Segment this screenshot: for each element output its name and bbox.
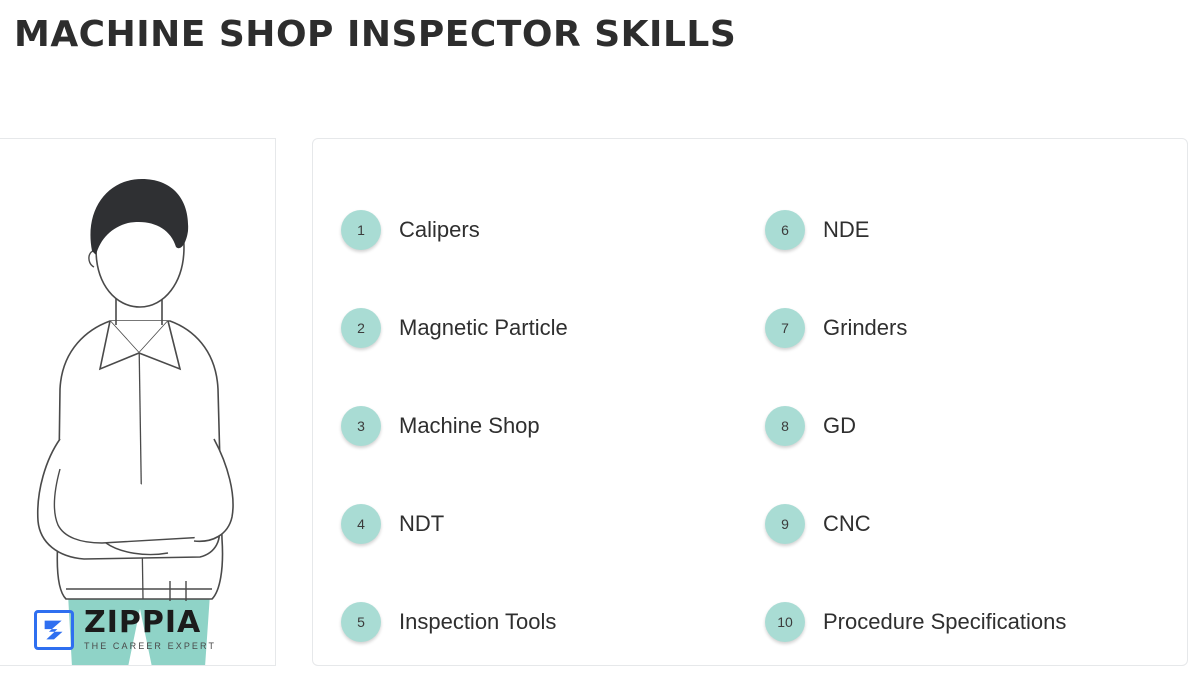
person-illustration bbox=[0, 139, 276, 666]
list-item: 2 Magnetic Particle bbox=[341, 279, 761, 377]
skill-rank-badge: 4 bbox=[341, 504, 381, 544]
skill-rank-badge: 1 bbox=[341, 210, 381, 250]
zippia-logo-mark bbox=[34, 610, 74, 650]
list-item: 4 NDT bbox=[341, 475, 761, 573]
skills-column-left: 1 Calipers 2 Magnetic Particle 3 Machine… bbox=[341, 181, 761, 671]
list-item: 5 Inspection Tools bbox=[341, 573, 761, 671]
list-item: 10 Procedure Specifications bbox=[765, 573, 1185, 671]
skills-card: 1 Calipers 2 Magnetic Particle 3 Machine… bbox=[312, 138, 1188, 666]
skill-label: Procedure Specifications bbox=[823, 609, 1066, 635]
skill-rank-badge: 9 bbox=[765, 504, 805, 544]
illustration-panel bbox=[0, 138, 276, 666]
skill-rank-badge: 10 bbox=[765, 602, 805, 642]
skill-label: Magnetic Particle bbox=[399, 315, 568, 341]
skill-label: Inspection Tools bbox=[399, 609, 556, 635]
skill-label: GD bbox=[823, 413, 856, 439]
skill-rank-badge: 3 bbox=[341, 406, 381, 446]
list-item: 8 GD bbox=[765, 377, 1185, 475]
skill-label: NDE bbox=[823, 217, 869, 243]
skill-rank-badge: 8 bbox=[765, 406, 805, 446]
skill-label: CNC bbox=[823, 511, 871, 537]
skills-column-right: 6 NDE 7 Grinders 8 GD 9 CNC 10 Procedure… bbox=[765, 181, 1185, 671]
skill-rank-badge: 2 bbox=[341, 308, 381, 348]
skill-label: Grinders bbox=[823, 315, 907, 341]
list-item: 1 Calipers bbox=[341, 181, 761, 279]
list-item: 3 Machine Shop bbox=[341, 377, 761, 475]
zippia-wordmark: ZIPPIA THE CAREER EXPERT bbox=[84, 608, 216, 651]
zippia-logo: ZIPPIA THE CAREER EXPERT bbox=[34, 608, 216, 651]
skill-label: NDT bbox=[399, 511, 444, 537]
skill-rank-badge: 7 bbox=[765, 308, 805, 348]
list-item: 6 NDE bbox=[765, 181, 1185, 279]
z-letter-icon bbox=[37, 613, 71, 647]
skill-rank-badge: 6 bbox=[765, 210, 805, 250]
skill-label: Machine Shop bbox=[399, 413, 540, 439]
list-item: 9 CNC bbox=[765, 475, 1185, 573]
zippia-tagline: THE CAREER EXPERT bbox=[84, 642, 216, 651]
skill-label: Calipers bbox=[399, 217, 480, 243]
page-title: MACHINE SHOP INSPECTOR SKILLS bbox=[14, 14, 736, 55]
list-item: 7 Grinders bbox=[765, 279, 1185, 377]
zippia-name: ZIPPIA bbox=[84, 608, 216, 638]
skill-rank-badge: 5 bbox=[341, 602, 381, 642]
